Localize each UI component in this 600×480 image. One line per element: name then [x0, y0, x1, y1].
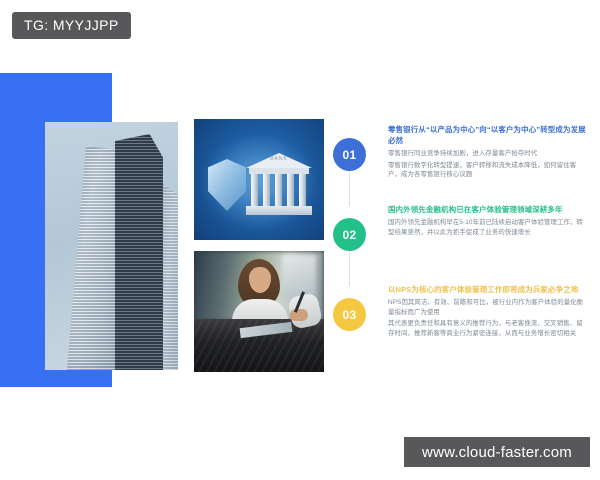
timeline-heading-02: 国内外领先金融机构已在客户体验管理领域深耕多年 — [388, 204, 588, 215]
timeline-heading-01: 零售银行从“以产品为中心”向“以客户为中心”转型成为发展必然 — [388, 124, 588, 146]
tower-right-facade — [115, 134, 163, 370]
timeline-text-02: 国内外领先金融机构已在客户体验管理领域深耕多年 国内外领先金融机构早在5-10年… — [388, 204, 588, 239]
customer-service-photo — [194, 251, 324, 372]
timeline-paragraph: 其代表更负责任和具有意义的推荐行为，与老客挽流、交叉销售、留存时间、推荐新客等商… — [388, 319, 588, 338]
bank-column — [275, 174, 282, 206]
timeline-paragraph: NPS因其简洁、有效、前瞻和可比，被行业内作为客户体验的量化衡量指标而广为使用 — [388, 298, 588, 317]
timeline: 01 零售银行从“以产品为中心”向“以客户为中心”转型成为发展必然 零售银行同业… — [330, 124, 592, 384]
timeline-paragraph: 国内外领先金融机构早在5-10年前已陆续启动客户体验管理工作，转型结果斐然，并以… — [388, 218, 588, 237]
telegram-watermark-badge: TG: MYYJJPP — [12, 12, 131, 39]
timeline-badge-03: 03 — [333, 298, 366, 331]
timeline-paragraph: 零售银行数字化转型提速，客户转移和流失成本降低，如何留住客户，成为各零售银行核心… — [388, 161, 588, 180]
bank-base — [246, 206, 312, 215]
timeline-badge-01: 01 — [333, 138, 366, 171]
bank-label: BANK — [246, 156, 312, 162]
timeline-paragraph: 零售银行同业竞争持续加剧，进入存量客户抢夺时代 — [388, 149, 588, 159]
timeline-text-01: 零售银行从“以产品为中心”向“以客户为中心”转型成为发展必然 零售银行同业竞争持… — [388, 124, 588, 182]
bank-column — [299, 174, 306, 206]
bank-column — [263, 174, 270, 206]
slide-canvas: BANK 01 零售银行从“以产品为中心”向“以客户为中心”转型成为发展必 — [0, 0, 600, 480]
bank-shield-image: BANK — [194, 119, 324, 240]
person-hand — [290, 309, 308, 321]
bank-column — [287, 174, 294, 206]
timeline-heading-03: 以NPS为核心的客户体验管理工作即将成为兵家必争之地 — [388, 284, 588, 295]
timeline-text-03: 以NPS为核心的客户体验管理工作即将成为兵家必争之地 NPS因其简洁、有效、前瞻… — [388, 284, 588, 340]
skyscraper-photo — [45, 122, 178, 370]
timeline-badge-02: 02 — [333, 218, 366, 251]
site-watermark-bar: www.cloud-faster.com — [404, 437, 590, 467]
bank-column — [251, 174, 258, 206]
bank-building-icon: BANK — [246, 153, 312, 215]
